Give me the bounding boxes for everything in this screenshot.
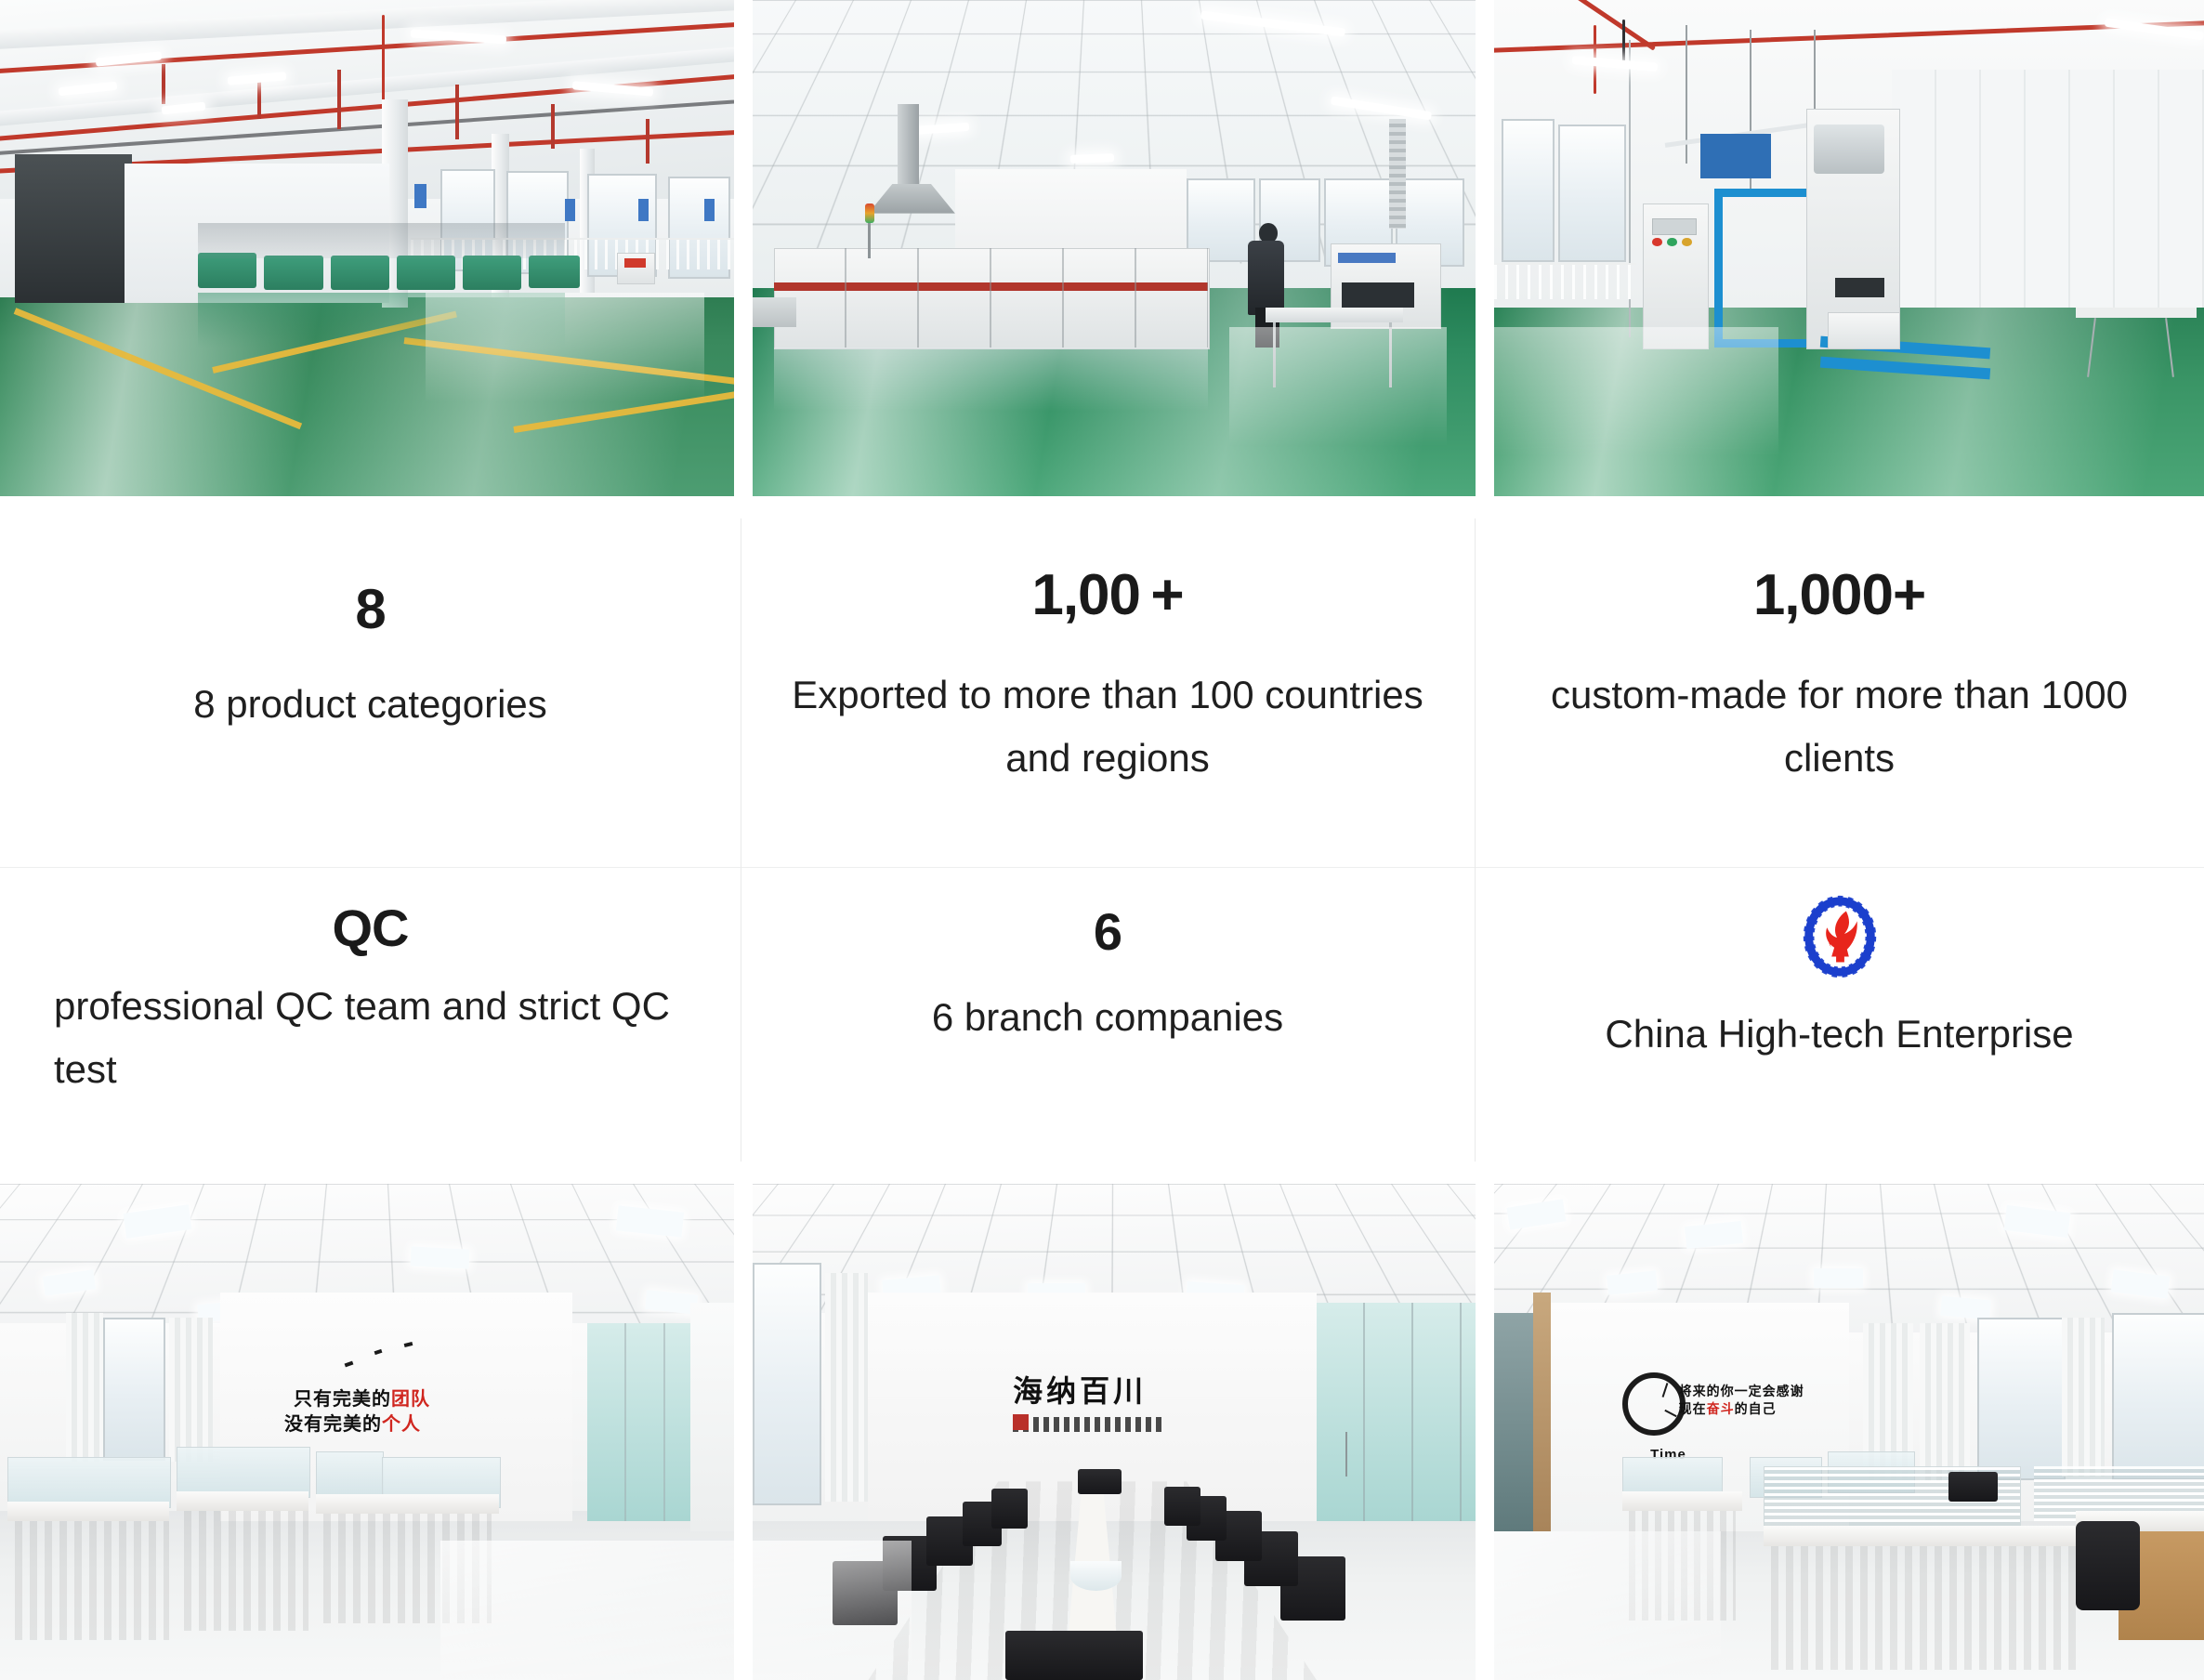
slogan-line1: 将来的你一定会感谢 [1679,1383,1804,1401]
factory-workshop-photo [0,0,734,496]
company-profile-page: 8 8 product categories 1,00 + Exported t… [0,0,2204,1680]
top-photo-row [0,0,2204,496]
stat-number: 1,000+ [1753,567,1925,624]
china-high-tech-enterprise-logo [1794,891,1885,982]
slogan-line2-red: 奋斗 [1707,1401,1735,1416]
production-line-photo [753,0,1476,496]
meeting-room-calligraphy: 海纳百川 [1013,1368,1147,1411]
stat-cell-custom-clients: 1,000+ custom-made for more than 1000 cl… [1475,518,2204,867]
workstation-office-photo: Time 将来的你一定会感谢 现在奋斗的自己 [1494,1184,2204,1680]
slogan-line1-red: 团队 [391,1389,430,1410]
stats-grid: 8 8 product categories 1,00 + Exported t… [0,518,2204,1162]
stat-cell-product-categories: 8 8 product categories [0,518,741,867]
stat-cell-qc-team: QC professional QC team and strict QC te… [0,867,741,1162]
stat-cell-export-countries: 1,00 + Exported to more than 100 countri… [741,518,1475,867]
stats-row-2: QC professional QC team and strict QC te… [0,867,2204,1162]
stat-number: 6 [1094,906,1122,958]
stat-cell-high-tech-certificate: China High-tech Enterprise [1475,867,2204,1162]
meeting-room-photo: 海纳百川 [753,1184,1476,1680]
office-wall-slogan: 只有完美的团队 没有完美的个人 [294,1387,430,1437]
slogan-line2-b: 的自己 [1735,1401,1777,1416]
slogan-line2-a: 现在 [1679,1401,1707,1416]
stat-description: China High-tech Enterprise [1605,1003,2073,1066]
stat-number: 1,00 + [1031,567,1183,624]
stat-description: custom-made for more than 1000 clients [1512,663,2167,790]
stat-description: professional QC team and strict QC test [54,975,687,1101]
workstation-wall-slogan: 将来的你一定会感谢 现在奋斗的自己 [1679,1383,1804,1419]
stat-number: 8 [355,582,385,637]
slogan-line1-black: 只有完美的 [294,1389,391,1410]
slogan-line2-red: 个人 [382,1414,421,1435]
slogan-line2-black: 没有完美的 [284,1414,382,1435]
stat-description: 6 branch companies [932,986,1283,1049]
equipment-room-photo [1494,0,2204,496]
office-reception-photo: 只有完美的团队 没有完美的个人 [0,1184,734,1680]
stat-description: Exported to more than 100 countries and … [782,663,1433,790]
stat-cell-branch-companies: 6 6 branch companies [741,867,1475,1162]
stats-row-1: 8 8 product categories 1,00 + Exported t… [0,518,2204,867]
stat-number: QC [333,902,409,954]
stat-description: 8 product categories [193,673,547,736]
clock-icon [1622,1372,1686,1436]
bottom-photo-row: 只有完美的团队 没有完美的个人 [0,1184,2204,1680]
